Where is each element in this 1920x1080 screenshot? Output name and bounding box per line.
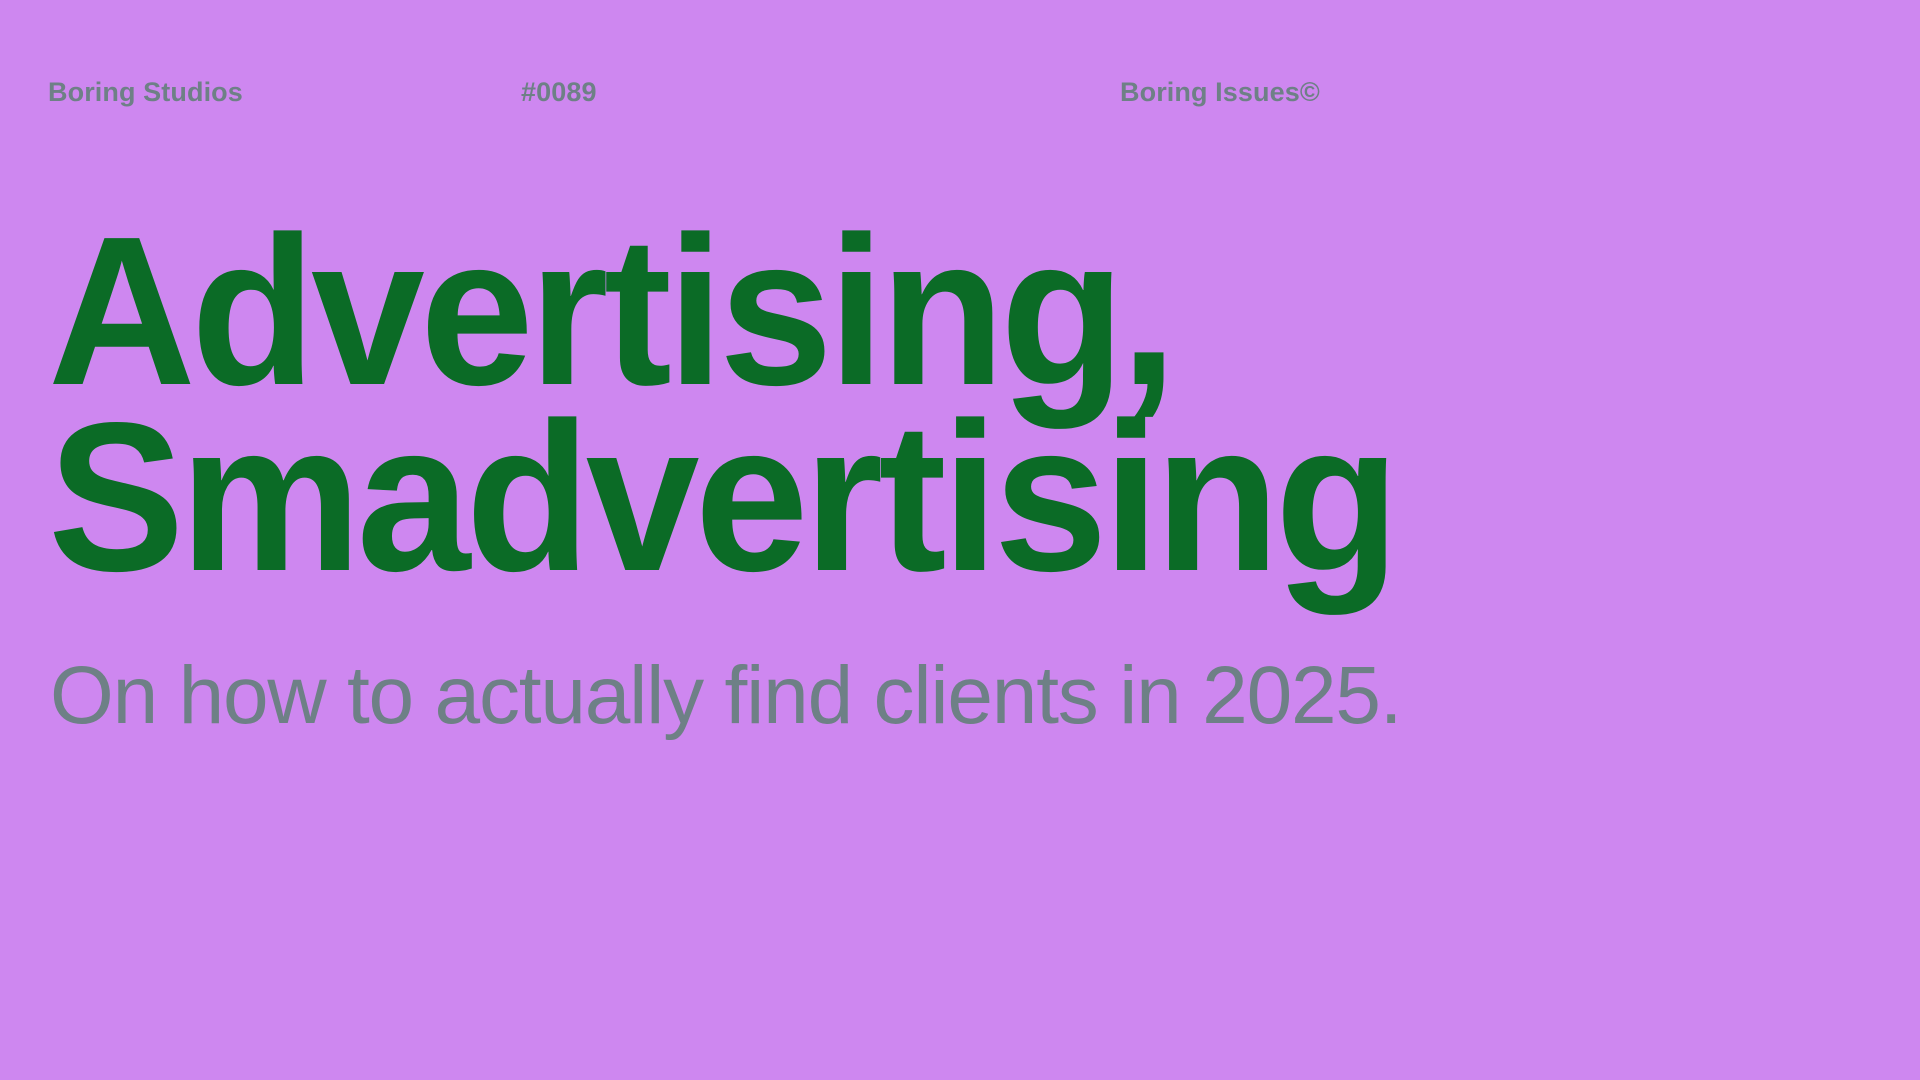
header-meta-row: Boring Studios #0089 Boring Issues© <box>0 76 1920 116</box>
headline-line-2: Smadvertising <box>48 404 1785 590</box>
page-title: Advertising, Smadvertising <box>48 218 1848 590</box>
issue-number-label: #0089 <box>521 76 597 108</box>
poster-canvas: Boring Studios #0089 Boring Issues© Adve… <box>0 0 1920 1080</box>
headline-line-1: Advertising, <box>48 218 1785 404</box>
studio-name-label: Boring Studios <box>48 76 243 108</box>
page-subtitle: On how to actually find clients in 2025. <box>50 650 1401 742</box>
brand-label: Boring Issues© <box>1120 76 1320 108</box>
